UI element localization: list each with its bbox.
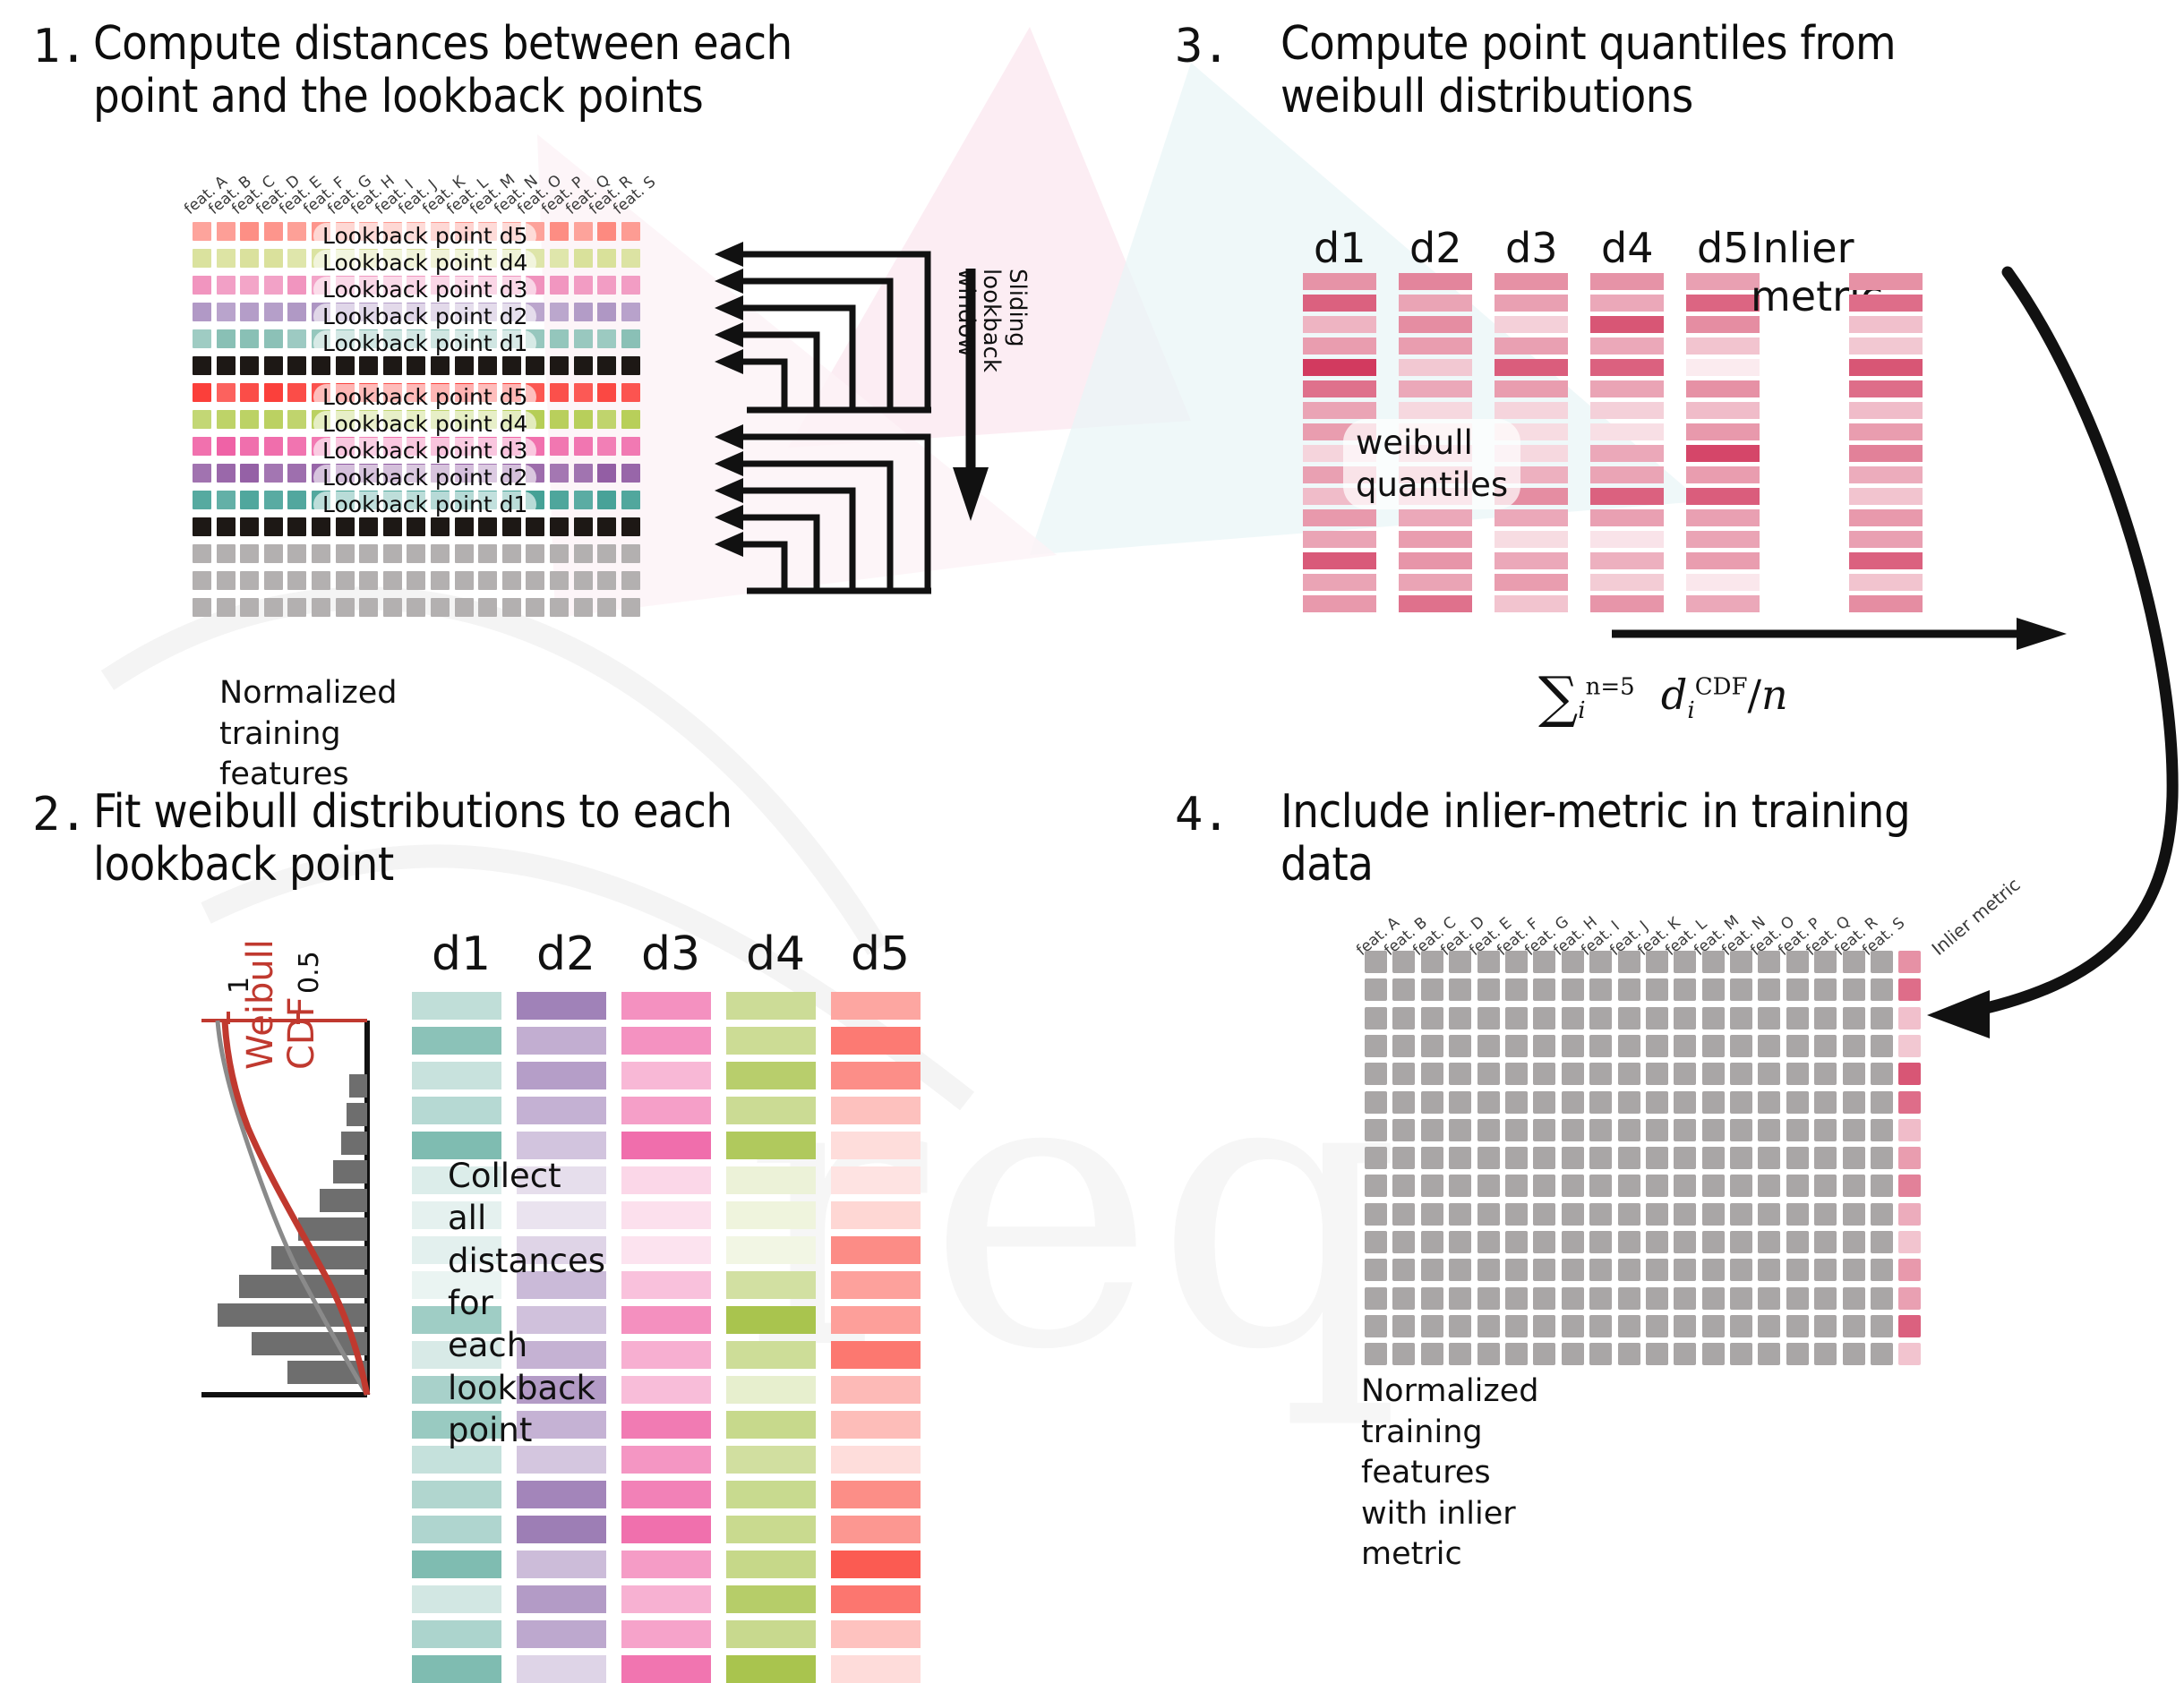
feature-cell xyxy=(1505,978,1528,1001)
grid-cell xyxy=(574,598,593,617)
feature-cell xyxy=(1871,1063,1893,1085)
quantile-bar xyxy=(1590,337,1664,355)
lookback-row-label-wrap: Lookback point d2 xyxy=(313,303,536,329)
feature-cell xyxy=(1871,1175,1893,1197)
distance-bar xyxy=(517,992,606,1020)
feature-cell xyxy=(1843,1287,1865,1310)
distance-bar xyxy=(517,1516,606,1543)
feature-cell xyxy=(1843,1203,1865,1226)
distance-bar xyxy=(831,1201,921,1229)
grid-cell xyxy=(312,356,330,375)
feature-cell xyxy=(1505,1147,1528,1169)
feature-cell xyxy=(1618,1007,1640,1029)
feature-cell xyxy=(1814,1091,1837,1114)
grid-cell xyxy=(574,303,593,321)
feature-cell xyxy=(1421,1203,1443,1226)
grid-cell xyxy=(502,356,521,375)
feature-cell xyxy=(1871,1007,1893,1029)
grid-cell xyxy=(217,598,236,617)
feature-cell xyxy=(1674,1259,1696,1281)
feature-cell xyxy=(1449,1287,1471,1310)
feature-cell xyxy=(1392,1231,1415,1253)
feature-cell xyxy=(1758,1035,1780,1057)
grid-cell xyxy=(193,356,211,375)
distance-bar xyxy=(831,992,921,1020)
feature-cell xyxy=(1589,978,1612,1001)
inlier-metric-connector-arrow xyxy=(1907,242,2176,1021)
feature-cell xyxy=(1533,1063,1555,1085)
step-2-title: Fit weibull distributions to each lookba… xyxy=(93,786,953,893)
distance-bar xyxy=(726,1132,816,1159)
feature-cell xyxy=(1871,1203,1893,1226)
grid-cell xyxy=(550,249,569,268)
feature-cell xyxy=(1814,1259,1837,1281)
feature-cell xyxy=(1562,1035,1584,1057)
grid-cell xyxy=(621,464,640,483)
feature-cell xyxy=(1589,951,1612,973)
quantile-bar xyxy=(1590,445,1664,462)
feature-cell xyxy=(1505,1091,1528,1114)
feature-cell xyxy=(1589,1287,1612,1310)
grid-cell xyxy=(240,544,259,563)
feature-cell xyxy=(1618,1315,1640,1337)
grid-cell xyxy=(597,517,616,536)
feature-cell xyxy=(1618,1147,1640,1169)
feature-cell xyxy=(1421,1287,1443,1310)
feature-cell xyxy=(1449,1203,1471,1226)
grid-cell xyxy=(359,571,378,590)
feature-cell xyxy=(1365,1287,1387,1310)
feature-cell xyxy=(1674,1091,1696,1114)
feature-cell xyxy=(1674,951,1696,973)
quantile-bar xyxy=(1590,359,1664,376)
grid-cell xyxy=(502,598,521,617)
training-row xyxy=(1365,1259,1921,1281)
feature-cell xyxy=(1702,1231,1725,1253)
feature-cell xyxy=(1843,1035,1865,1057)
feature-cell xyxy=(1449,1315,1471,1337)
grid-cell xyxy=(264,356,283,375)
grid-cell xyxy=(240,491,259,509)
grid-cell xyxy=(526,544,544,563)
distance-bar xyxy=(621,1376,711,1404)
grid-cell xyxy=(193,222,211,241)
grid-cell xyxy=(383,598,402,617)
distance-bar xyxy=(726,1411,816,1439)
feature-cell xyxy=(1758,1147,1780,1169)
feature-cell xyxy=(1814,1315,1837,1337)
grid-cell xyxy=(550,222,569,241)
feature-cell xyxy=(1562,1259,1584,1281)
grid-cell xyxy=(193,383,211,402)
grid-cell xyxy=(336,356,355,375)
feature-cell xyxy=(1786,1315,1809,1337)
feature-cell xyxy=(1392,1063,1415,1085)
feature-cell xyxy=(1786,1231,1809,1253)
distance-bar xyxy=(831,1062,921,1089)
feature-cell xyxy=(1392,978,1415,1001)
distance-bar xyxy=(726,1655,816,1683)
quantile-bar xyxy=(1495,359,1568,376)
grid-cell xyxy=(240,517,259,536)
inlier-metric-cell xyxy=(1898,1175,1921,1197)
inlier-metric-cell xyxy=(1898,1203,1921,1226)
step3-column-label-d1: d1 xyxy=(1314,224,1366,272)
distance-bar xyxy=(726,1027,816,1055)
grid-cell xyxy=(550,356,569,375)
feature-cell xyxy=(1477,1119,1500,1141)
feature-cell xyxy=(1449,1091,1471,1114)
feature-cell xyxy=(1674,1007,1696,1029)
feature-cell xyxy=(1646,951,1668,973)
grid-cell xyxy=(217,517,236,536)
distance-bar xyxy=(621,1062,711,1089)
feature-cell xyxy=(1477,1175,1500,1197)
grid-cell xyxy=(574,329,593,348)
grid-cell xyxy=(383,356,402,375)
feature-cell xyxy=(1871,978,1893,1001)
feature-cell xyxy=(1421,1035,1443,1057)
distance-bar xyxy=(517,1481,606,1508)
quantile-bar xyxy=(1495,402,1568,419)
quantile-bar xyxy=(1590,488,1664,505)
distance-bar xyxy=(412,1516,501,1543)
feature-cell xyxy=(1533,1035,1555,1057)
feature-cell xyxy=(1392,1315,1415,1337)
grid-cell xyxy=(217,437,236,456)
feature-cell xyxy=(1730,1147,1752,1169)
grid-cell xyxy=(455,598,474,617)
quantile-bar xyxy=(1303,531,1376,548)
feature-cell xyxy=(1421,1259,1443,1281)
feature-cell xyxy=(1814,1007,1837,1029)
lookback-row-label-wrap: Lookback point d3 xyxy=(313,277,536,303)
feature-cell xyxy=(1533,1287,1555,1310)
step2-column-label-d3: d3 xyxy=(641,927,700,981)
distance-bar xyxy=(726,1097,816,1124)
feature-cell xyxy=(1589,1315,1612,1337)
grid-cell xyxy=(621,356,640,375)
distance-bar xyxy=(831,1376,921,1404)
distance-bar xyxy=(726,1551,816,1578)
quantile-bar xyxy=(1686,359,1760,376)
grid-cell xyxy=(597,276,616,295)
grid-cell xyxy=(621,383,640,402)
feature-cell xyxy=(1365,1259,1387,1281)
feature-cell xyxy=(1533,1315,1555,1337)
feature-cell xyxy=(1674,1147,1696,1169)
distance-bar xyxy=(412,1062,501,1089)
quantile-bar xyxy=(1590,423,1664,440)
quantile-bar xyxy=(1686,466,1760,483)
feature-cell xyxy=(1814,978,1837,1001)
distance-bar xyxy=(726,1516,816,1543)
grid-cell xyxy=(597,598,616,617)
feature-cell xyxy=(1646,1287,1668,1310)
grid-cell xyxy=(287,517,306,536)
feature-cell xyxy=(1843,1147,1865,1169)
feature-cell xyxy=(1730,1091,1752,1114)
feature-cell xyxy=(1758,1091,1780,1114)
feature-cell xyxy=(1871,951,1893,973)
feature-cell xyxy=(1646,1315,1668,1337)
feature-cell xyxy=(1449,978,1471,1001)
grid-cell xyxy=(574,464,593,483)
feature-cell xyxy=(1702,1007,1725,1029)
feature-cell xyxy=(1702,1119,1725,1141)
feature-cell xyxy=(1730,1063,1752,1085)
feature-cell xyxy=(1871,1147,1893,1169)
grid-cell xyxy=(359,598,378,617)
grid-cell xyxy=(193,437,211,456)
quantile-bar xyxy=(1590,574,1664,591)
feature-cell xyxy=(1477,1343,1500,1365)
distance-bar xyxy=(621,1585,711,1613)
feature-cell xyxy=(1843,978,1865,1001)
feature-cell xyxy=(1618,1091,1640,1114)
grid-cell xyxy=(574,437,593,456)
grid-cell xyxy=(264,410,283,429)
feature-cell xyxy=(1392,1259,1415,1281)
feature-cell xyxy=(1477,1091,1500,1114)
feature-cell xyxy=(1562,1175,1584,1197)
feature-cell xyxy=(1392,1343,1415,1365)
feature-cell xyxy=(1674,1119,1696,1141)
step2-column-label-d1: d1 xyxy=(432,927,491,981)
grid-cell xyxy=(621,571,640,590)
feature-cell xyxy=(1421,951,1443,973)
distance-bar xyxy=(517,1551,606,1578)
grid-cell xyxy=(550,437,569,456)
quantile-bar xyxy=(1399,552,1472,569)
feature-cell xyxy=(1646,1119,1668,1141)
lookback-row-label-wrap: Lookback point d5 xyxy=(313,223,536,249)
inlier-metric-cell xyxy=(1898,1091,1921,1114)
feature-cell xyxy=(1562,1315,1584,1337)
feature-cell xyxy=(1730,978,1752,1001)
feature-cell xyxy=(1843,1063,1865,1085)
feature-cell xyxy=(1674,1287,1696,1310)
feature-cell xyxy=(1702,1203,1725,1226)
quantile-bar xyxy=(1303,380,1376,397)
feature-cell xyxy=(1589,1007,1612,1029)
grid-cell xyxy=(193,464,211,483)
feature-cell xyxy=(1392,1035,1415,1057)
feature-cell xyxy=(1702,1091,1725,1114)
quantile-bar xyxy=(1399,316,1472,333)
anchor-point-row xyxy=(193,356,645,375)
quantile-bar xyxy=(1303,509,1376,526)
quantile-bar xyxy=(1303,295,1376,312)
feature-cell xyxy=(1449,1231,1471,1253)
feature-cell xyxy=(1477,1007,1500,1029)
grid-cell xyxy=(407,598,425,617)
feature-cell xyxy=(1646,1175,1668,1197)
quantile-bar xyxy=(1303,273,1376,290)
step-2-number: 2. xyxy=(32,788,87,841)
quantile-bar xyxy=(1590,552,1664,569)
feature-cell xyxy=(1618,1343,1640,1365)
quantile-bar xyxy=(1590,273,1664,290)
feature-cell xyxy=(1786,1035,1809,1057)
distance-bar xyxy=(621,1097,711,1124)
feature-cell xyxy=(1758,951,1780,973)
feature-cell xyxy=(1562,978,1584,1001)
feature-cell xyxy=(1758,1203,1780,1226)
grid-cell xyxy=(336,517,355,536)
grid-cell xyxy=(431,571,450,590)
grid-cell xyxy=(597,249,616,268)
feature-cell xyxy=(1533,1119,1555,1141)
feature-cell xyxy=(1562,1287,1584,1310)
quantile-bar xyxy=(1686,423,1760,440)
grid-cell xyxy=(383,544,402,563)
feature-cell xyxy=(1702,1063,1725,1085)
feature-cell xyxy=(1477,1063,1500,1085)
distance-bar xyxy=(831,1516,921,1543)
feature-cell xyxy=(1843,1091,1865,1114)
distance-bar xyxy=(412,1655,501,1683)
feature-cell xyxy=(1871,1231,1893,1253)
lookback-row-label-wrap: Lookback point d4 xyxy=(313,250,536,276)
inlier-metric-cell xyxy=(1898,1119,1921,1141)
training-row xyxy=(1365,1063,1921,1085)
feature-cell xyxy=(1814,1175,1837,1197)
quantile-bar xyxy=(1590,295,1664,312)
distance-bar xyxy=(621,1446,711,1474)
feature-cell xyxy=(1786,978,1809,1001)
grid-cell xyxy=(455,356,474,375)
distance-bar xyxy=(621,1236,711,1264)
training-row xyxy=(1365,1035,1921,1057)
feature-cell xyxy=(1562,1063,1584,1085)
grid-cell xyxy=(287,491,306,509)
feature-cell xyxy=(1843,1259,1865,1281)
feature-cell xyxy=(1392,1007,1415,1029)
feature-cell xyxy=(1533,951,1555,973)
quantile-bar xyxy=(1303,574,1376,591)
grid-cell xyxy=(621,222,640,241)
distance-bar xyxy=(621,1166,711,1194)
distance-bar xyxy=(621,1551,711,1578)
grid-cell xyxy=(574,276,593,295)
feature-cell xyxy=(1758,1343,1780,1365)
grid-cell xyxy=(287,356,306,375)
grid-cell xyxy=(287,383,306,402)
feature-cell xyxy=(1589,1231,1612,1253)
distance-bar xyxy=(621,1271,711,1299)
quantile-bar xyxy=(1495,273,1568,290)
feature-cell xyxy=(1814,1231,1837,1253)
feature-cell xyxy=(1618,1287,1640,1310)
grid-cell xyxy=(264,517,283,536)
feature-cell xyxy=(1533,1259,1555,1281)
grid-cell xyxy=(574,356,593,375)
grid-cell xyxy=(574,571,593,590)
quantile-bar xyxy=(1686,337,1760,355)
grid-cell xyxy=(550,491,569,509)
feature-cell xyxy=(1589,1175,1612,1197)
feature-cell xyxy=(1702,1343,1725,1365)
grid-cell xyxy=(407,356,425,375)
grid-cell xyxy=(455,517,474,536)
grid-cell xyxy=(478,571,497,590)
feature-cell xyxy=(1730,1315,1752,1337)
feature-cell xyxy=(1618,1175,1640,1197)
grid-cell xyxy=(550,598,569,617)
distance-bar xyxy=(726,1481,816,1508)
grid-cell xyxy=(431,517,450,536)
grid-cell xyxy=(312,598,330,617)
grid-cell xyxy=(597,356,616,375)
grid-cell xyxy=(240,437,259,456)
grid-cell xyxy=(621,410,640,429)
grid-cell xyxy=(621,276,640,295)
distance-bar xyxy=(621,992,711,1020)
grid-cell xyxy=(217,303,236,321)
quantile-bar xyxy=(1590,380,1664,397)
inlier-metric-cell xyxy=(1898,1315,1921,1337)
grid-cell xyxy=(264,491,283,509)
feature-cell xyxy=(1646,1259,1668,1281)
feature-cell xyxy=(1392,1119,1415,1141)
quantile-bar xyxy=(1590,402,1664,419)
feature-cell xyxy=(1646,1007,1668,1029)
feature-cell xyxy=(1646,1203,1668,1226)
feature-cell xyxy=(1533,1203,1555,1226)
feature-cell xyxy=(1646,1063,1668,1085)
grid-cell xyxy=(478,356,497,375)
feature-cell xyxy=(1814,1343,1837,1365)
feature-cell xyxy=(1702,1035,1725,1057)
feature-cell xyxy=(1365,1035,1387,1057)
distance-bar xyxy=(517,1620,606,1648)
lookback-row-label-wrap: Lookback point d2 xyxy=(313,465,536,491)
grid-cell xyxy=(287,249,306,268)
grid-cell xyxy=(217,571,236,590)
step1-lookback-brackets xyxy=(707,240,940,616)
distance-bar xyxy=(726,1341,816,1369)
grid-cell xyxy=(193,517,211,536)
grid-cell xyxy=(217,544,236,563)
distance-bar xyxy=(517,1097,606,1124)
quantile-bar xyxy=(1399,359,1472,376)
feature-cell xyxy=(1589,1259,1612,1281)
grid-cell xyxy=(478,544,497,563)
feature-cell xyxy=(1646,1231,1668,1253)
feature-cell xyxy=(1365,1175,1387,1197)
quantile-bar xyxy=(1303,359,1376,376)
feature-cell xyxy=(1618,1203,1640,1226)
feature-cell xyxy=(1533,978,1555,1001)
feature-cell xyxy=(1365,1091,1387,1114)
lookback-row-label: Lookback point d5 xyxy=(313,223,536,249)
distance-bar xyxy=(726,1201,816,1229)
feature-cell xyxy=(1449,951,1471,973)
feature-cell xyxy=(1786,1007,1809,1029)
feature-cell xyxy=(1730,1231,1752,1253)
feature-cell xyxy=(1871,1315,1893,1337)
quantile-bar xyxy=(1686,488,1760,505)
feature-cell xyxy=(1365,1007,1387,1029)
grid-cell xyxy=(550,517,569,536)
distance-bar xyxy=(831,1341,921,1369)
training-row xyxy=(1365,1203,1921,1226)
grid-cell xyxy=(597,303,616,321)
distance-bar xyxy=(621,1027,711,1055)
feature-cell xyxy=(1730,1203,1752,1226)
feature-cell xyxy=(1702,1315,1725,1337)
